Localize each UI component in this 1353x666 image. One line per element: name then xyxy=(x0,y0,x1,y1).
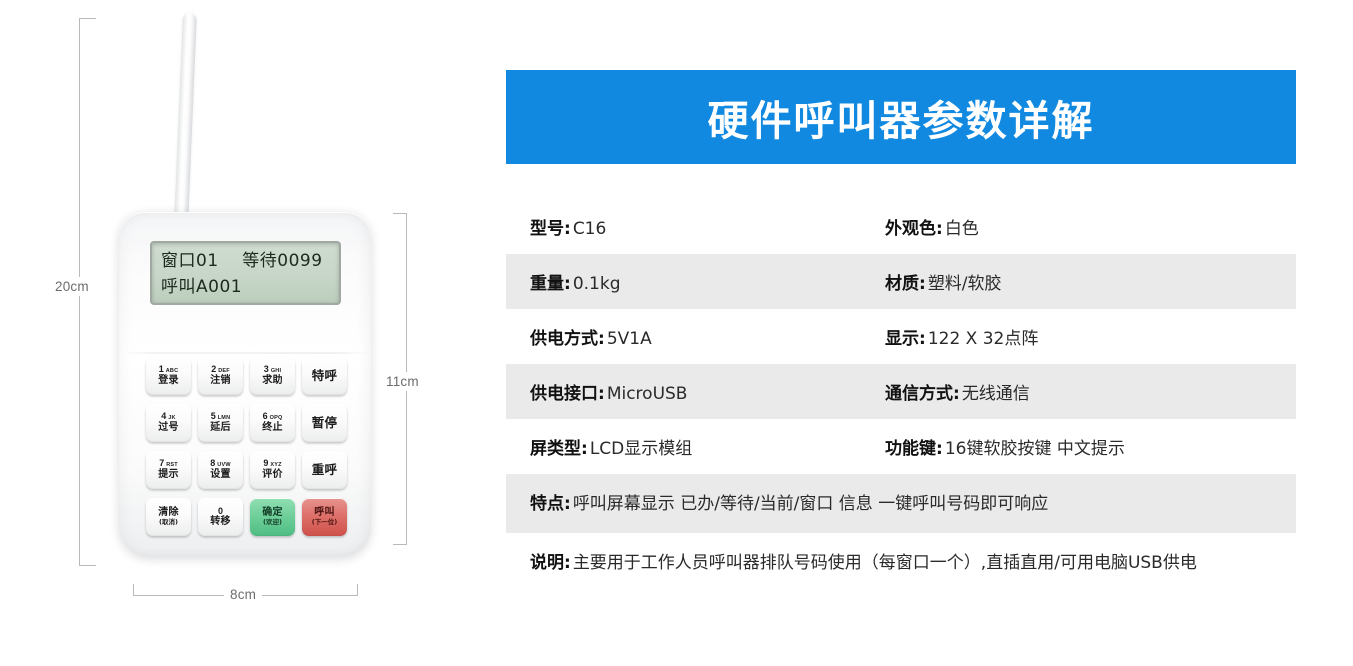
keypad-key-4[interactable]: 4JK过号 xyxy=(146,404,191,442)
key-label: 暂停 xyxy=(312,416,338,429)
spec-value: MicroUSB xyxy=(607,384,688,404)
spec-cell: 供电接口:MicroUSB xyxy=(530,364,885,419)
key-label: 呼叫 xyxy=(314,508,335,519)
width-dimension-cap-right xyxy=(357,584,358,596)
key-digit: 1 xyxy=(159,365,164,374)
spec-cell: 重量:0.1kg xyxy=(530,254,885,309)
keypad-key-1[interactable]: 1ABC登录 xyxy=(146,357,191,395)
spec-row: 重量:0.1kg材质:塑料/软胶 xyxy=(506,254,1296,309)
height-dimension-label: 20cm xyxy=(53,277,91,296)
keypad: 1ABC登录2DEF注销3GHI求助特呼4JK过号5LMN延后6OPQ终止暂停7… xyxy=(146,357,348,543)
key-digit: 8 xyxy=(210,459,215,468)
spec-value: LCD显示模组 xyxy=(590,434,692,459)
key-digit-row: 5LMN xyxy=(211,412,231,422)
spec-key: 特点: xyxy=(530,489,571,514)
key-label: 延后 xyxy=(210,423,231,434)
key-label: 提示 xyxy=(158,470,179,481)
spec-key: 供电接口: xyxy=(530,379,605,404)
keypad-key-0[interactable]: 0转移 xyxy=(198,498,243,536)
width-dimension-label: 8cm xyxy=(224,586,262,603)
keypad-key-确定[interactable]: 确定(欢迎) xyxy=(250,498,295,536)
keypad-key-7[interactable]: 7RST提示 xyxy=(146,451,191,489)
key-digit: 0 xyxy=(218,507,223,516)
body-height-dimension-cap-bottom xyxy=(393,544,407,545)
key-label: 评价 xyxy=(262,470,283,481)
key-digit-row: 9XYZ xyxy=(263,459,281,469)
spec-row: 型号:C16外观色:白色 xyxy=(506,199,1296,254)
keypad-key-暂停[interactable]: 暂停 xyxy=(302,404,347,442)
key-label: 确定 xyxy=(262,508,283,519)
body-height-dimension-label: 11cm xyxy=(383,372,422,391)
spec-cell: 供电方式:5V1A xyxy=(530,309,885,364)
key-sublabel: (欢迎) xyxy=(263,519,282,526)
spec-value: 主要用于工作人员呼叫器排队号码使用（每窗口一个）,直插直用/可用电脑USB供电 xyxy=(573,551,1197,577)
key-label: 终止 xyxy=(262,423,283,434)
spec-value: 0.1kg xyxy=(573,274,621,294)
keypad-key-特呼[interactable]: 特呼 xyxy=(302,357,347,395)
key-digit-row: 4JK xyxy=(161,412,175,422)
key-digit: 2 xyxy=(211,365,216,374)
spec-key: 通信方式: xyxy=(885,379,960,404)
key-digit-row: 7RST xyxy=(159,459,178,469)
product-photo: 20cm 11cm 8cm 窗口01 等待0099 呼叫A001 1ABC登录2… xyxy=(0,0,470,666)
spec-row: 屏类型:LCD显示模组功能键:16键软胶按键 中文提示 xyxy=(506,419,1296,474)
spec-row: 特点:呼叫屏幕显示 已办/等待/当前/窗口 信息 一键呼叫号码即可响应 xyxy=(506,474,1296,533)
key-label: 清除 xyxy=(158,508,179,519)
keypad-key-8[interactable]: 8UVW设置 xyxy=(198,451,243,489)
key-label: 设置 xyxy=(210,470,231,481)
spec-value: 5V1A xyxy=(607,329,652,349)
keypad-key-呼叫[interactable]: 呼叫(下一位) xyxy=(302,498,347,536)
spec-value: 白色 xyxy=(945,214,979,239)
key-label: 求助 xyxy=(262,376,283,387)
spec-value: 呼叫屏幕显示 已办/等待/当前/窗口 信息 一键呼叫号码即可响应 xyxy=(573,492,1048,518)
keypad-key-2[interactable]: 2DEF注销 xyxy=(198,357,243,395)
key-digit: 5 xyxy=(211,412,216,421)
key-digit: 7 xyxy=(159,459,164,468)
spec-cell: 通信方式:无线通信 xyxy=(885,364,1272,419)
spec-row: 供电方式:5V1A显示:122 X 32点阵 xyxy=(506,309,1296,364)
spec-header-banner: 硬件呼叫器参数详解 xyxy=(506,70,1296,164)
key-digit-row: 2DEF xyxy=(211,365,230,375)
spec-value: 无线通信 xyxy=(962,379,1030,404)
spec-key: 屏类型: xyxy=(530,434,588,459)
key-label: 转移 xyxy=(210,517,231,528)
lcd-screen: 窗口01 等待0099 呼叫A001 xyxy=(150,241,341,305)
spec-value: 塑料/软胶 xyxy=(928,269,1002,294)
keypad-key-9[interactable]: 9XYZ评价 xyxy=(250,451,295,489)
key-label: 重呼 xyxy=(312,463,338,476)
spec-cell: 材质:塑料/软胶 xyxy=(885,254,1272,309)
key-sublabel: (下一位) xyxy=(312,519,337,526)
spec-key: 重量: xyxy=(530,269,571,294)
spec-key: 功能键: xyxy=(885,434,943,459)
page-title: 硬件呼叫器参数详解 xyxy=(708,87,1095,147)
key-digit-row: 6OPQ xyxy=(263,412,283,422)
key-digit: 9 xyxy=(263,459,268,468)
spec-key: 材质: xyxy=(885,269,926,294)
key-label: 注销 xyxy=(210,376,231,387)
spec-cell: 特点:呼叫屏幕显示 已办/等待/当前/窗口 信息 一键呼叫号码即可响应 xyxy=(530,474,1272,533)
device-seam xyxy=(122,352,368,354)
height-dimension-cap-top xyxy=(79,18,96,19)
key-label: 特呼 xyxy=(312,369,338,382)
key-digit-row: 1ABC xyxy=(159,365,179,375)
key-sublabel: (取消) xyxy=(159,519,178,526)
keypad-key-6[interactable]: 6OPQ终止 xyxy=(250,404,295,442)
spec-row: 说明:主要用于工作人员呼叫器排队号码使用（每窗口一个）,直插直用/可用电脑USB… xyxy=(506,533,1296,605)
height-dimension-cap-bottom xyxy=(79,565,96,566)
spec-value: C16 xyxy=(573,219,607,239)
spec-cell: 外观色:白色 xyxy=(885,199,1272,254)
spec-key: 外观色: xyxy=(885,214,943,239)
key-digit: 4 xyxy=(161,412,166,421)
key-digit: 6 xyxy=(263,412,268,421)
body-height-dimension-cap-top xyxy=(393,213,407,214)
spec-key: 供电方式: xyxy=(530,324,605,349)
spec-key: 型号: xyxy=(530,214,571,239)
spec-key: 显示: xyxy=(885,324,926,349)
spec-row: 供电接口:MicroUSB通信方式:无线通信 xyxy=(506,364,1296,419)
keypad-key-3[interactable]: 3GHI求助 xyxy=(250,357,295,395)
lcd-line-1: 窗口01 等待0099 xyxy=(161,248,339,274)
key-digit: 3 xyxy=(264,365,269,374)
spec-cell: 说明:主要用于工作人员呼叫器排队号码使用（每窗口一个）,直插直用/可用电脑USB… xyxy=(530,533,1272,592)
key-label: 过号 xyxy=(158,423,179,434)
key-digit-row: 8UVW xyxy=(210,459,230,469)
keypad-key-重呼[interactable]: 重呼 xyxy=(302,451,347,489)
keypad-key-清除[interactable]: 清除(取消) xyxy=(146,498,191,536)
keypad-key-5[interactable]: 5LMN延后 xyxy=(198,404,243,442)
key-label: 登录 xyxy=(158,376,179,387)
spec-table: 型号:C16外观色:白色重量:0.1kg材质:塑料/软胶供电方式:5V1A显示:… xyxy=(506,199,1296,605)
spec-value: 122 X 32点阵 xyxy=(928,324,1039,349)
spec-value: 16键软胶按键 中文提示 xyxy=(945,434,1125,459)
lcd-line-2: 呼叫A001 xyxy=(161,274,339,300)
spec-cell: 功能键:16键软胶按键 中文提示 xyxy=(885,419,1272,474)
spec-cell: 显示:122 X 32点阵 xyxy=(885,309,1272,364)
antenna xyxy=(174,13,197,225)
spec-cell: 型号:C16 xyxy=(530,199,885,254)
width-dimension-cap-left xyxy=(133,584,134,596)
spec-cell: 屏类型:LCD显示模组 xyxy=(530,419,885,474)
spec-panel: 硬件呼叫器参数详解 型号:C16外观色:白色重量:0.1kg材质:塑料/软胶供电… xyxy=(506,0,1296,666)
spec-key: 说明: xyxy=(530,548,571,573)
key-digit-row: 3GHI xyxy=(264,365,281,375)
key-digit-row: 0 xyxy=(218,507,223,516)
